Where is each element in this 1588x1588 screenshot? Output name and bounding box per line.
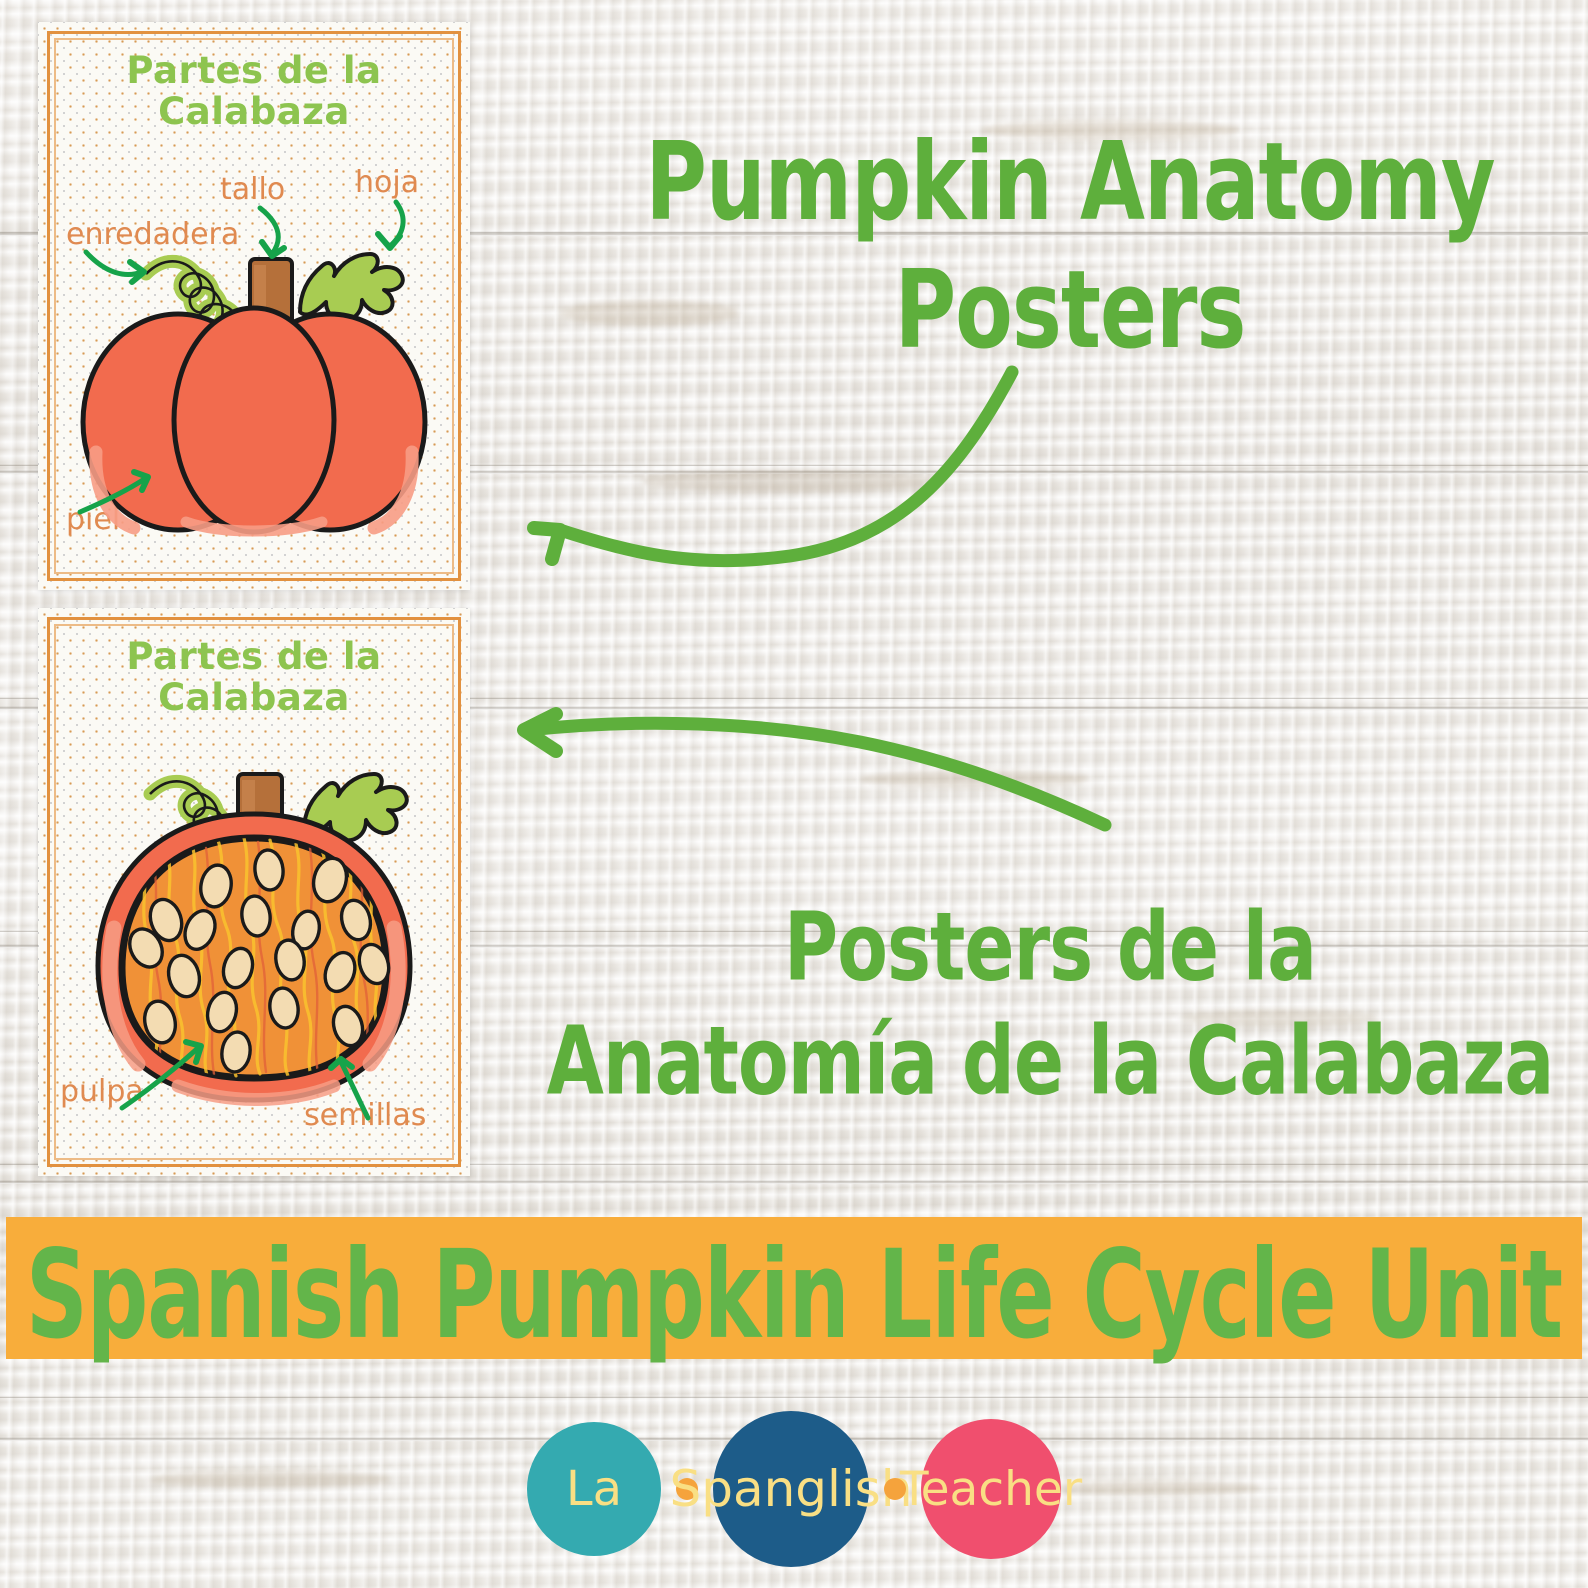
whole-pumpkin-illustration: [38, 22, 470, 590]
heading-english-line2: Posters: [620, 256, 1520, 366]
heading-spanish-line1: Posters de la: [520, 900, 1580, 997]
unit-title-text: Spanish Pumpkin Life Cycle Unit: [6, 1225, 1582, 1367]
brand-logo[interactable]: La Spanglish Teacher: [0, 1404, 1588, 1574]
unit-title-banner: Spanish Pumpkin Life Cycle Unit: [6, 1217, 1582, 1359]
leaf-shape: [300, 254, 403, 320]
logo-word-teacher: Teacher: [900, 1462, 1082, 1517]
heading-spanish: Posters de la Anatomía de la Calabaza: [520, 900, 1580, 1111]
poster-cutaway-pumpkin[interactable]: Partes de la Calabaza pulpa semillas: [38, 608, 470, 1176]
logo-word-la: La: [566, 1461, 622, 1517]
plank-seam: [0, 1180, 1588, 1184]
heading-english-line1: Pumpkin Anatomy: [620, 128, 1520, 238]
logo-word-spanglish: Spanglish: [669, 1460, 912, 1518]
poster-whole-pumpkin[interactable]: Partes de la Calabaza tallo hoja enredad…: [38, 22, 470, 590]
wood-knot: [860, 770, 1090, 788]
heading-spanish-line2: Anatomía de la Calabaza: [520, 1015, 1580, 1112]
logo-circle-teacher: Teacher: [921, 1419, 1061, 1559]
logo-circle-la: La: [527, 1422, 661, 1556]
heading-english: Pumpkin Anatomy Posters: [620, 128, 1520, 365]
logo-circle-spanglish: Spanglish: [713, 1411, 869, 1567]
pumpkin-body: [83, 308, 425, 532]
cutaway-pumpkin-illustration: [38, 608, 470, 1176]
wood-knot: [640, 470, 940, 492]
